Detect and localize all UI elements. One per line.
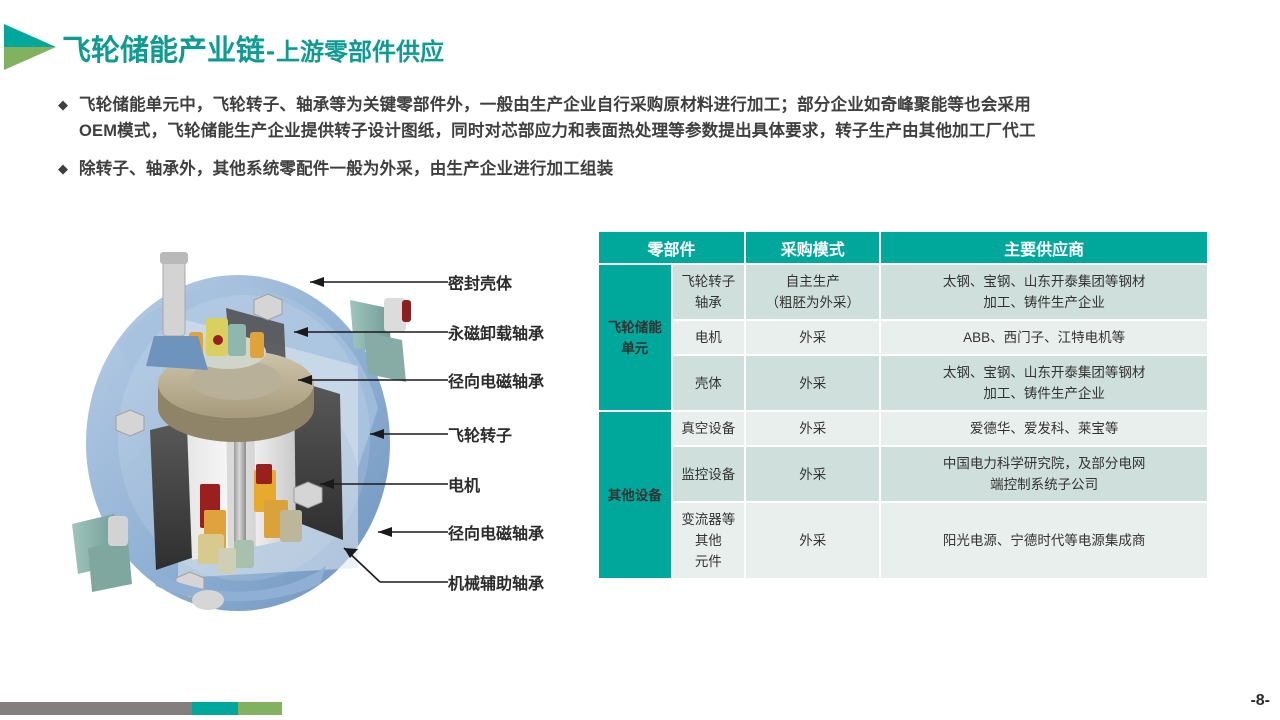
flywheel-cutaway-diagram xyxy=(58,248,448,623)
table-cell-mode: 外采 xyxy=(746,503,879,578)
cell-line: 元件 xyxy=(695,554,722,569)
table-cell-mode: 外采 xyxy=(746,412,879,445)
diamond-bullet-icon: ◆ xyxy=(58,156,68,182)
bullet-list: ◆ 飞轮储能单元中，飞轮转子、轴承等为关键零部件外，一般由生产企业自行采购原材料… xyxy=(58,92,1238,194)
callout-label-motor: 电机 xyxy=(448,472,480,496)
table-header-supplier: 主要供应商 xyxy=(881,232,1207,263)
table-row: 电机 外采 ABB、西门子、江特电机等 xyxy=(599,321,1207,354)
bullet-item-1-text: 飞轮储能单元中，飞轮转子、轴承等为关键零部件外，一般由生产企业自行采购原材料进行… xyxy=(79,92,1036,144)
table-cell-part: 电机 xyxy=(673,321,745,354)
table-cell-part: 飞轮转子 轴承 xyxy=(673,265,745,319)
footer-segment-gray xyxy=(0,702,192,715)
cell-line: （粗胚为外采） xyxy=(765,295,860,310)
cell-line: 自主生产 xyxy=(786,274,840,289)
cell-line: 变流器等其他 xyxy=(681,512,735,548)
table-cell-mode: 自主生产 （粗胚为外采） xyxy=(746,265,879,319)
table-cell-supplier: 太钢、宝钢、山东开泰集团等钢材 加工、铸件生产企业 xyxy=(881,265,1207,319)
table-row: 变流器等其他 元件 外采 阳光电源、宁德时代等电源集成商 xyxy=(599,503,1207,578)
cell-line: 加工、铸件生产企业 xyxy=(983,386,1105,401)
page-title-sub: 上游零部件供应 xyxy=(276,39,444,66)
table-group-other-equipment: 其他设备 xyxy=(599,412,671,578)
bullet-item-2-text: 除转子、轴承外，其他系统零配件一般为外采，由生产企业进行加工组装 xyxy=(79,156,613,182)
cell-line: 飞轮转子 xyxy=(681,274,735,289)
cell-line: 加工、铸件生产企业 xyxy=(983,295,1105,310)
table-row: 飞轮储能单元 飞轮转子 轴承 自主生产 （粗胚为外采） 太钢、宝钢、山东开泰集团… xyxy=(599,265,1207,319)
table-header-part: 零部件 xyxy=(599,232,744,263)
title-arrow-icon xyxy=(4,24,56,70)
table-header-row: 零部件 采购模式 主要供应商 xyxy=(599,232,1207,263)
diamond-bullet-icon: ◆ xyxy=(58,92,68,118)
table-row: 壳体 外采 太钢、宝钢、山东开泰集团等钢材 加工、铸件生产企业 xyxy=(599,356,1207,410)
table-cell-mode: 外采 xyxy=(746,356,879,410)
table-cell-part: 监控设备 xyxy=(673,447,745,501)
cell-line: 太钢、宝钢、山东开泰集团等钢材 xyxy=(943,365,1146,380)
table-cell-mode: 外采 xyxy=(746,321,879,354)
supply-chain-table: 零部件 采购模式 主要供应商 飞轮储能单元 飞轮转子 轴承 自主生产 （粗胚为外… xyxy=(597,230,1209,580)
footer-segment-green xyxy=(238,702,282,715)
table-cell-part: 壳体 xyxy=(673,356,745,410)
table-cell-supplier: ABB、西门子、江特电机等 xyxy=(881,321,1207,354)
bullet-item-1: ◆ 飞轮储能单元中，飞轮转子、轴承等为关键零部件外，一般由生产企业自行采购原材料… xyxy=(58,92,1238,144)
page-number: -8- xyxy=(1250,692,1270,710)
callout-label-radial-em-bearing-upper: 径向电磁轴承 xyxy=(448,368,544,392)
table-cell-part: 真空设备 xyxy=(673,412,745,445)
table-cell-supplier: 阳光电源、宁德时代等电源集成商 xyxy=(881,503,1207,578)
cell-line: 太钢、宝钢、山东开泰集团等钢材 xyxy=(943,274,1146,289)
bullet-line: OEM模式，飞轮储能生产企业提供转子设计图纸，同时对芯部应力和表面热处理等参数提… xyxy=(79,122,1036,140)
callout-label-seal-housing: 密封壳体 xyxy=(448,270,512,294)
table-cell-mode: 外采 xyxy=(746,447,879,501)
table-cell-part: 变流器等其他 元件 xyxy=(673,503,745,578)
table-cell-supplier: 太钢、宝钢、山东开泰集团等钢材 加工、铸件生产企业 xyxy=(881,356,1207,410)
cell-line: 轴承 xyxy=(695,295,722,310)
page-title: 飞轮储能产业链-上游零部件供应 xyxy=(62,27,444,69)
cell-line: 端控制系统子公司 xyxy=(990,477,1098,492)
page-title-separator: - xyxy=(265,36,276,66)
callout-label-list: 密封壳体 永磁卸载轴承 径向电磁轴承 飞轮转子 电机 径向电磁轴承 机械辅助轴承 xyxy=(448,248,598,623)
bullet-line: 飞轮储能单元中，飞轮转子、轴承等为关键零部件外，一般由生产企业自行采购原材料进行… xyxy=(79,96,1031,114)
footer-accent-bar xyxy=(0,702,282,715)
table-cell-supplier: 中国电力科学研究院，及部分电网 端控制系统子公司 xyxy=(881,447,1207,501)
callout-label-flywheel-rotor: 飞轮转子 xyxy=(448,422,512,446)
table-header-mode: 采购模式 xyxy=(746,232,879,263)
table-row: 其他设备 真空设备 外采 爱德华、爱发科、莱宝等 xyxy=(599,412,1207,445)
footer-segment-teal xyxy=(192,702,238,715)
page-title-main: 飞轮储能产业链 xyxy=(62,35,265,67)
callout-label-mechanical-aux-bearing: 机械辅助轴承 xyxy=(448,570,544,594)
callout-label-radial-em-bearing-lower: 径向电磁轴承 xyxy=(448,520,544,544)
bullet-item-2: ◆ 除转子、轴承外，其他系统零配件一般为外采，由生产企业进行加工组装 xyxy=(58,156,1238,182)
table-cell-supplier: 爱德华、爱发科、莱宝等 xyxy=(881,412,1207,445)
table-row: 监控设备 外采 中国电力科学研究院，及部分电网 端控制系统子公司 xyxy=(599,447,1207,501)
callout-label-pm-unloading-bearing: 永磁卸载轴承 xyxy=(448,320,544,344)
bullet-line: 除转子、轴承外，其他系统零配件一般为外采，由生产企业进行加工组装 xyxy=(79,160,613,178)
cell-line: 中国电力科学研究院，及部分电网 xyxy=(943,456,1146,471)
table-group-flywheel-unit: 飞轮储能单元 xyxy=(599,265,671,410)
